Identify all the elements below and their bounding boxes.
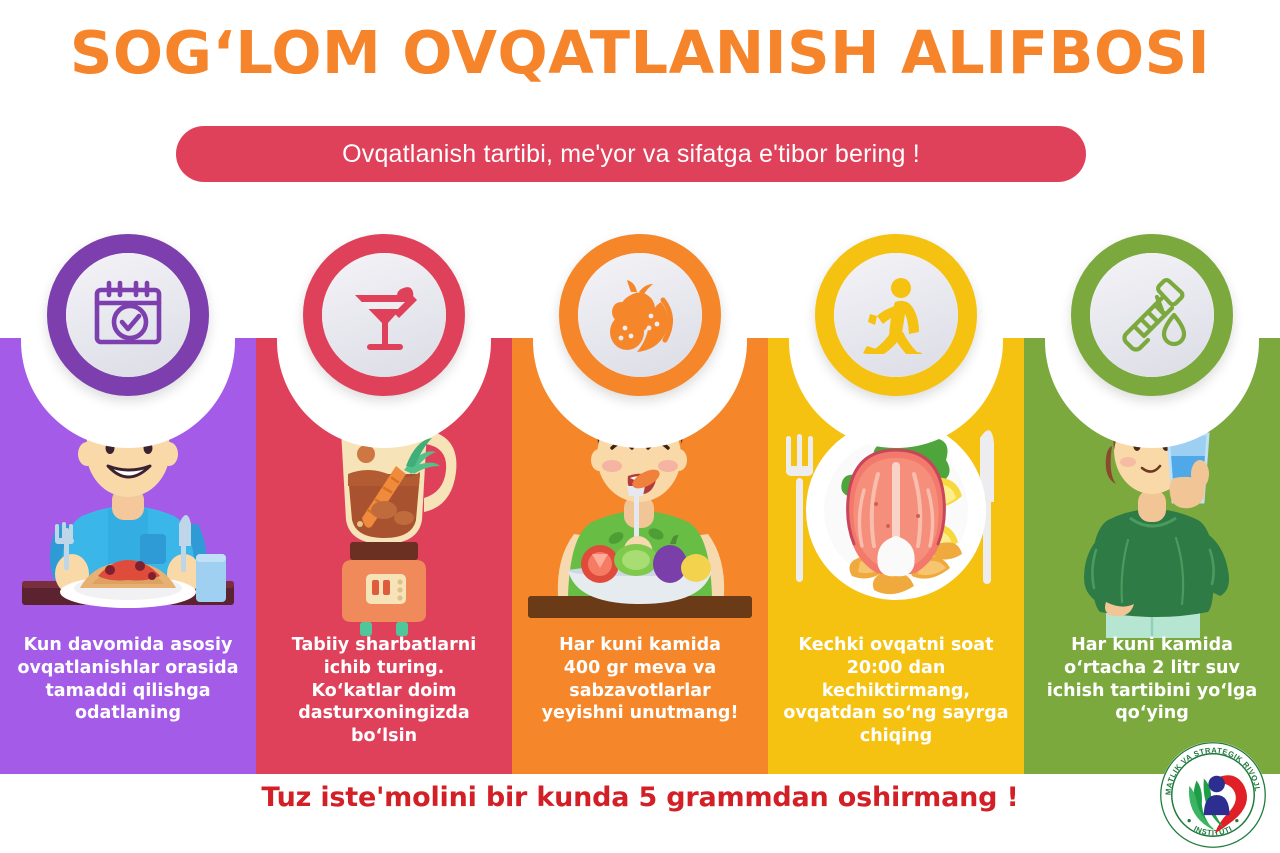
badge-2-inner (322, 253, 446, 377)
badge-fruits (559, 234, 721, 396)
badge-4-inner (834, 253, 958, 377)
column-4-text: Kechki ovqatni soat 20:00 dan kechiktirm… (776, 634, 1016, 748)
columns-container: Kun davomida asosiy ovqatlanishlar orasi… (0, 338, 1280, 774)
column-1-text: Kun davomida asosiy ovqatlanishlar orasi… (8, 634, 248, 725)
footer-text: Tuz iste'molini bir kunda 5 grammdan osh… (0, 782, 1280, 813)
column-5-text: Har kuni kamida o‘rtacha 2 litr suv ichi… (1032, 634, 1272, 725)
column-2: Tabiiy sharbatlarni ichib turing. Ko‘kat… (256, 338, 512, 774)
subtitle-banner: Ovqatlanish tartibi, me'yor va sifatga e… (176, 126, 1086, 182)
walking-person-icon (857, 276, 935, 354)
badge-1-inner (66, 253, 190, 377)
water-bottle-drop-icon (1112, 275, 1192, 355)
badge-5-inner (1090, 253, 1214, 377)
column-2-text: Tabiiy sharbatlarni ichib turing. Ko‘kat… (264, 634, 504, 748)
column-1: Kun davomida asosiy ovqatlanishlar orasi… (0, 338, 256, 774)
column-4: Kechki ovqatni soat 20:00 dan kechiktirm… (768, 338, 1024, 774)
badge-walking (815, 234, 977, 396)
infographic-poster: SOG‘LOM OVQATLANISH ALIFBOSI Ovqatlanish… (0, 0, 1280, 853)
page-title: SOG‘LOM OVQATLANISH ALIFBOSI (0, 18, 1280, 87)
subtitle-text: Ovqatlanish tartibi, me'yor va sifatga e… (342, 140, 920, 169)
calendar-check-icon (88, 275, 168, 355)
badge-water-bottle (1071, 234, 1233, 396)
badge-cocktail (303, 234, 465, 396)
badge-calendar (47, 234, 209, 396)
column-5: Har kuni kamida o‘rtacha 2 litr suv ichi… (1024, 338, 1280, 774)
fruits-plate-icon (599, 274, 681, 356)
institute-logo: SALOMATLIK VA STRATEGIK RIVOJLANISH INST… (1158, 740, 1268, 850)
column-3-text: Har kuni kamida 400 gr meva va sabzavotl… (520, 634, 760, 725)
badge-3-inner (578, 253, 702, 377)
cocktail-glass-icon (344, 275, 424, 355)
column-3: Har kuni kamida 400 gr meva va sabzavotl… (512, 338, 768, 774)
